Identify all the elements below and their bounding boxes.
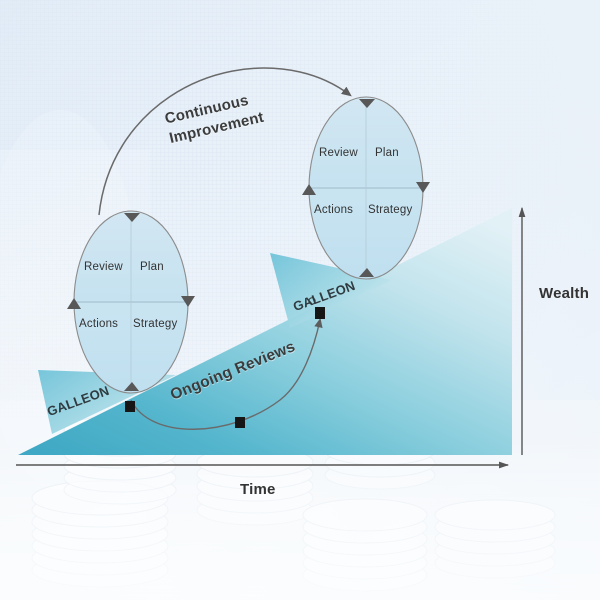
upper-cycle-label-plan: Plan — [375, 147, 399, 159]
lower-cycle-label-plan: Plan — [140, 261, 164, 273]
upper-cycle-label-actions: Actions — [314, 204, 353, 216]
lower-cycle-label-review: Review — [84, 261, 123, 273]
upper-cycle-label-strategy: Strategy — [368, 204, 412, 216]
wealth-axis-label: Wealth — [539, 285, 589, 302]
upper-cycle-label-review: Review — [319, 147, 358, 159]
lower-cycle-label-strategy: Strategy — [133, 318, 177, 330]
time-axis-label: Time — [240, 481, 276, 498]
diagram-canvas: Review Plan Actions Strategy Review Plan… — [0, 0, 600, 600]
lower-cycle-label-actions: Actions — [79, 318, 118, 330]
